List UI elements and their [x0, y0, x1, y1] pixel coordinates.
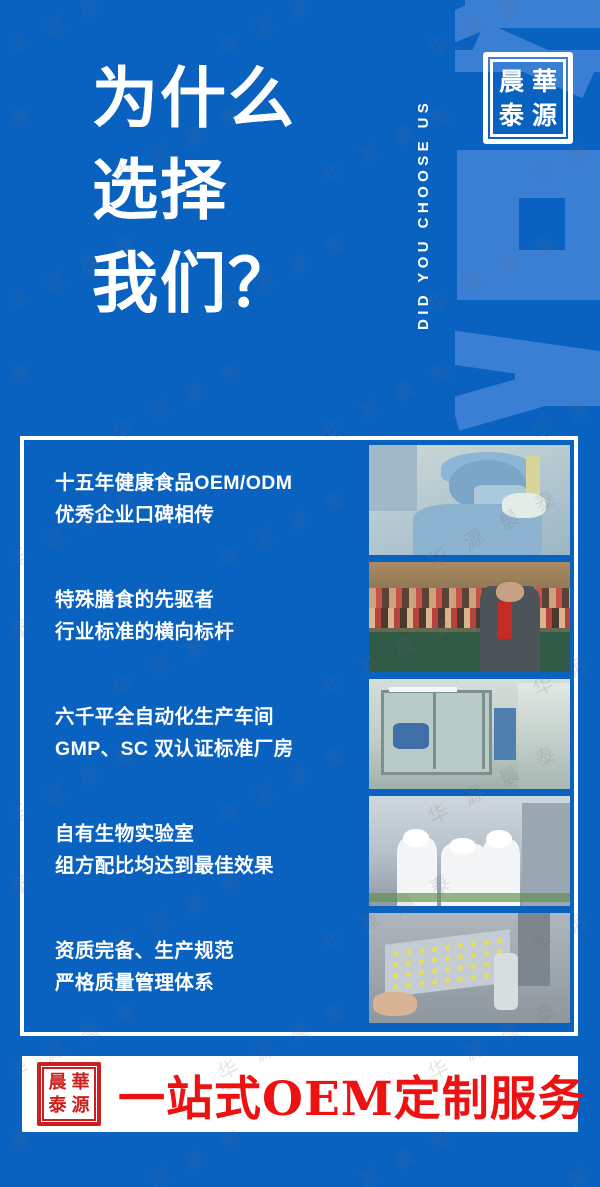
footer-slogan: 一站式OEM定制服务: [118, 1056, 586, 1132]
photo-art: [369, 445, 570, 555]
photo-art: [369, 796, 570, 906]
seal-char: 源: [528, 98, 561, 132]
blister-machine-photo: [369, 913, 570, 1023]
page-title-line-1: 为什么: [92, 52, 392, 144]
watermark-text: 华 源 晨 泰: [107, 351, 251, 446]
feature-card-text: 特殊膳食的先驱者 行业标准的横向标杆: [29, 562, 363, 672]
footer-banner: 晨 華 泰 源 一站式OEM定制服务: [22, 1056, 578, 1132]
photo-art: [369, 562, 570, 672]
packaging-line-photo: [369, 796, 570, 906]
cleanroom-corridor-photo: [369, 679, 570, 789]
conference-audience-photo: [369, 562, 570, 672]
why-letter-y-part: [515, 360, 600, 406]
why-letter-h-part: [565, 198, 600, 250]
seal-characters: 晨 華 泰 源: [495, 64, 561, 132]
brand-seal-icon: 晨 華 泰 源: [483, 52, 573, 144]
feature-card: 十五年健康食品OEM/ODM 优秀企业口碑相传: [29, 445, 570, 555]
feature-card-text: 六千平全自动化生产车间 GMP、SC 双认证标准厂房: [29, 679, 363, 789]
seal-char: 華: [528, 64, 561, 98]
seal-char: 晨: [46, 1071, 69, 1094]
page-title: 为什么 选择 我们？: [92, 52, 392, 329]
feature-line: 优秀企业口碑相传: [55, 500, 363, 532]
photo-art: [369, 679, 570, 789]
seal-char: 泰: [46, 1094, 69, 1117]
why-letter-h-part: [457, 250, 600, 300]
feature-line: 自有生物实验室: [55, 819, 363, 851]
seal-char: 華: [69, 1071, 92, 1094]
brand-seal-red-icon: 晨 華 泰 源: [37, 1062, 101, 1126]
feature-card-list: 十五年健康食品OEM/ODM 优秀企业口碑相传 特殊膳食的先驱者 行业标准的横向…: [29, 445, 570, 1029]
feature-card: 资质完备、生产规范 严格质量管理体系: [29, 913, 570, 1023]
vertical-subtitle: DID YOU CHOOSE US: [404, 14, 432, 414]
feature-line: 行业标准的横向标杆: [55, 617, 363, 649]
feature-line: GMP、SC 双认证标准厂房: [55, 734, 363, 766]
page-title-line-3: 我们？: [92, 237, 392, 329]
feature-card: 六千平全自动化生产车间 GMP、SC 双认证标准厂房: [29, 679, 570, 789]
feature-line: 六千平全自动化生产车间: [55, 702, 363, 734]
feature-card: 自有生物实验室 组方配比均达到最佳效果: [29, 796, 570, 906]
photo-art: [369, 913, 570, 1023]
seal-char: 泰: [495, 98, 528, 132]
watermark-text: 华 源 晨 泰: [317, 351, 461, 446]
seal-characters: 晨 華 泰 源: [46, 1071, 92, 1117]
feature-card-text: 十五年健康食品OEM/ODM 优秀企业口碑相传: [29, 445, 363, 555]
why-letter-h-part: [457, 198, 519, 250]
watermark-text: 华 源 晨 泰: [0, 95, 41, 190]
feature-line: 组方配比均达到最佳效果: [55, 851, 363, 883]
feature-line: 十五年健康食品OEM/ODM: [55, 468, 363, 500]
watermark-text: 华 源 晨 泰: [0, 351, 41, 446]
why-letter-h-part: [457, 150, 600, 198]
feature-line: 特殊膳食的先驱者: [55, 585, 363, 617]
page-title-line-2: 选择: [92, 144, 392, 236]
feature-line: 严格质量管理体系: [55, 968, 363, 1000]
seal-char: 晨: [495, 64, 528, 98]
feature-card-text: 自有生物实验室 组方配比均达到最佳效果: [29, 796, 363, 906]
feature-line: 资质完备、生产规范: [55, 936, 363, 968]
seal-char: 源: [69, 1094, 92, 1117]
feature-card: 特殊膳食的先驱者 行业标准的横向标杆: [29, 562, 570, 672]
feature-card-text: 资质完备、生产规范 严格质量管理体系: [29, 913, 363, 1023]
lab-technician-photo: [369, 445, 570, 555]
poster-root: DID YOU CHOOSE US 晨 華 泰 源 为什么 选择 我们？ 十五年…: [0, 0, 600, 1187]
